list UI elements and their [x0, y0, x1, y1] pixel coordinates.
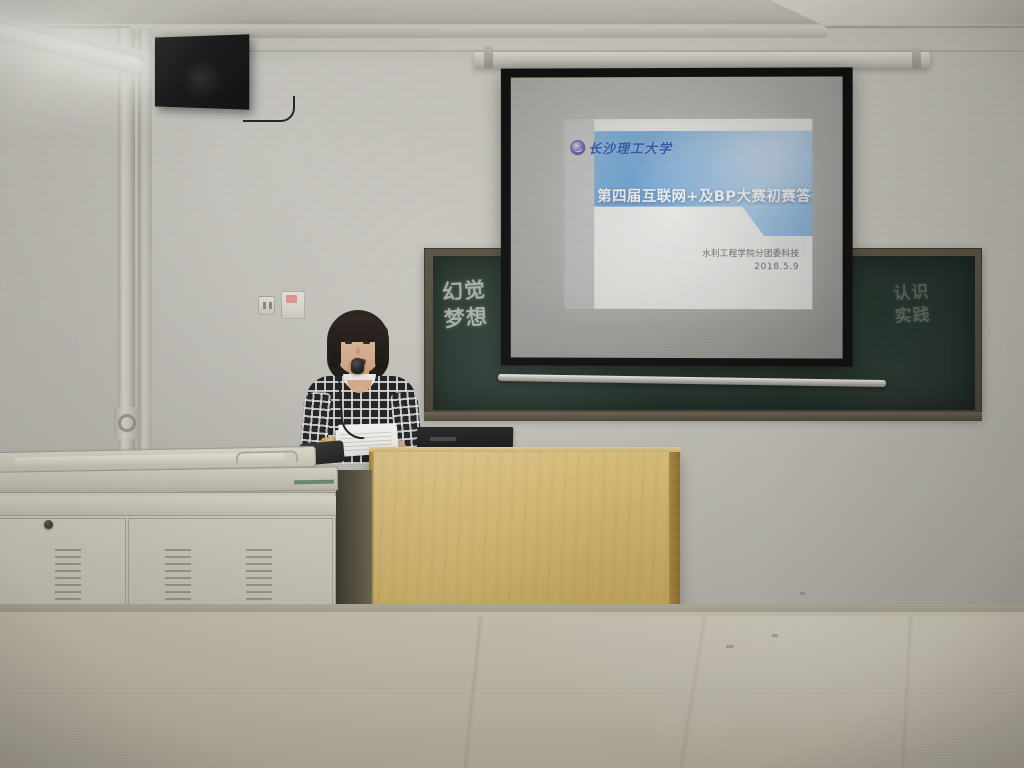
cabinet-lock-knob-1[interactable]	[44, 520, 53, 529]
chalk-writing-right: 认识实践	[893, 281, 931, 329]
hair-side-right	[375, 326, 388, 370]
eye-right	[363, 341, 370, 344]
wall-socket[interactable]	[258, 296, 275, 315]
cabinet-lid-handle[interactable]	[236, 450, 298, 464]
presentation-slide: 长沙理工大学 第四届互联网+及BP大赛初赛答辩 水利工程学院分团委科技 2018…	[564, 119, 812, 310]
eyebrow-right	[362, 336, 371, 338]
chalk-tray	[424, 412, 982, 421]
university-logo-text: 长沙理工大学	[588, 138, 672, 157]
screen-bracket-right	[912, 46, 921, 68]
projection-screen: 长沙理工大学 第四届互联网+及BP大赛初赛答辩 水利工程学院分团委科技 2018…	[501, 67, 853, 366]
projection-screen-housing	[474, 52, 930, 68]
floor-debris	[772, 634, 778, 637]
hair-side-left	[329, 326, 341, 368]
speaker-cone-icon	[182, 60, 223, 101]
speaker-cable	[243, 96, 295, 122]
laptop-brand-mark	[430, 437, 456, 441]
floor-debris	[800, 592, 805, 595]
classroom-photo: 幻觉梦想 认识实践 长沙理工大学 第四届互联网+及BP大赛初赛答辩 水利工程学院…	[0, 0, 1024, 768]
switch-indicator-led	[286, 295, 297, 303]
slide-date: 2018.5.9	[702, 262, 799, 272]
microphone-icon	[351, 358, 364, 374]
wall-speaker	[155, 34, 249, 109]
eye-left	[345, 341, 352, 344]
projection-screen-surface: 长沙理工大学 第四届互联网+及BP大赛初赛答辩 水利工程学院分团委科技 2018…	[511, 76, 843, 358]
screen-bracket-left	[484, 46, 493, 68]
pipe-clamp-ring-icon	[118, 414, 136, 432]
floor	[0, 612, 1024, 768]
nose	[356, 347, 360, 355]
university-emblem-icon	[570, 140, 585, 155]
university-logo: 长沙理工大学	[570, 138, 672, 157]
chalk-writing-left: 幻觉梦想	[441, 277, 489, 334]
slide-footer: 水利工程学院分团委科技 2018.5.9	[702, 247, 799, 272]
floor-debris	[726, 645, 734, 648]
eyebrow-left	[344, 336, 353, 338]
cabinet-rail	[0, 496, 336, 516]
slide-organizer: 水利工程学院分团委科技	[702, 247, 799, 259]
cabinet-green-strip	[294, 480, 334, 485]
slide-title: 第四届互联网+及BP大赛初赛答辩	[597, 185, 811, 206]
